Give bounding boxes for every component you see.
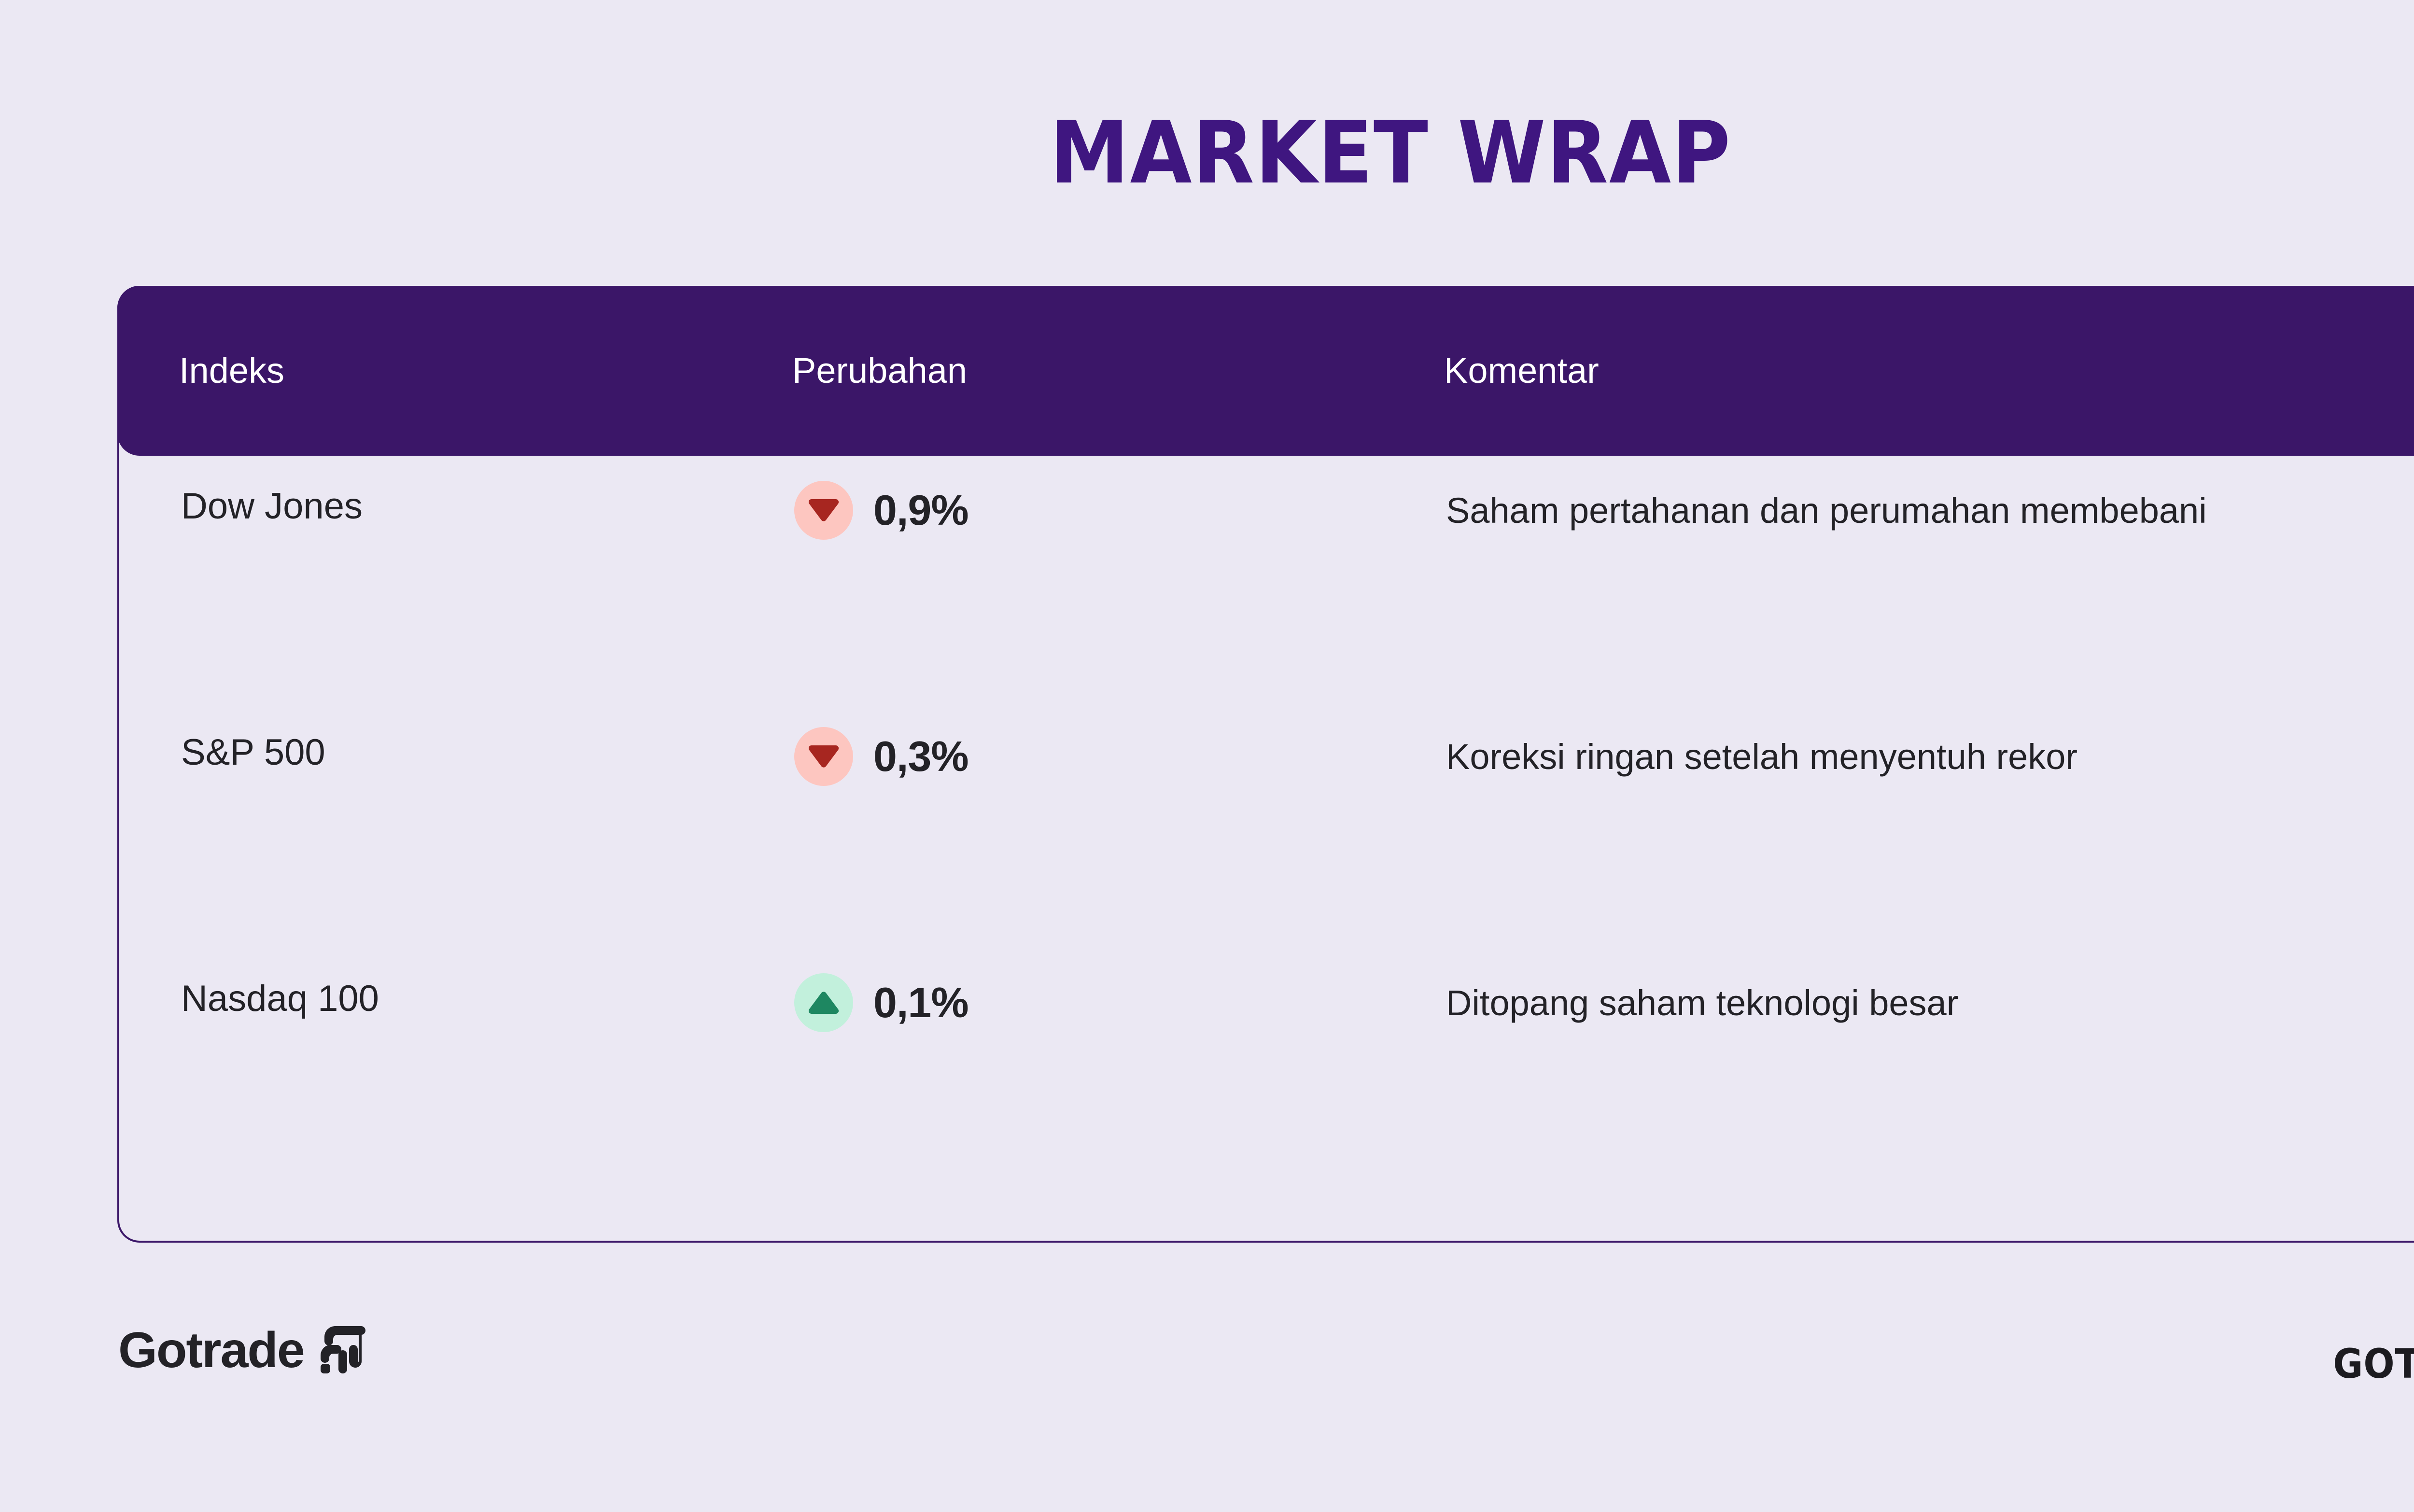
- page-title: MARKET WRAP: [98, 110, 2414, 196]
- row-index-name: S&P 500: [181, 704, 794, 773]
- table-row: Dow Jones 0,9% Saham pertahanan dan peru…: [119, 458, 2414, 704]
- row-comment: Ditopang saham teknologi besar: [1446, 950, 2414, 1028]
- row-comment: Saham pertahanan dan perumahan membebani: [1446, 458, 2414, 536]
- row-index-name: Nasdaq 100: [181, 950, 794, 1020]
- table-row: Nasdaq 100 0,1% Ditopang saham teknologi…: [119, 950, 2414, 1196]
- row-change-value: 0,1%: [873, 980, 968, 1026]
- table-header-row: Indeks Perubahan Komentar: [117, 286, 2414, 456]
- market-table-card: Indeks Perubahan Komentar Dow Jones 0,9%…: [117, 286, 2414, 1243]
- gotrade-bars-icon: [315, 1324, 369, 1377]
- row-comment: Koreksi ringan setelah menyentuh rekor: [1446, 704, 2414, 782]
- column-header-comment: Komentar: [1444, 351, 2414, 390]
- arrow-down-icon: [794, 727, 853, 786]
- gotrade-logo: Gotrade: [118, 1324, 369, 1377]
- row-change-value: 0,3%: [873, 733, 968, 780]
- row-index-name: Dow Jones: [181, 458, 794, 527]
- column-header-change: Perubahan: [792, 351, 1444, 390]
- row-change-cell: 0,3%: [794, 704, 1446, 786]
- arrow-up-icon: [794, 973, 853, 1032]
- arrow-down-icon: [794, 481, 853, 540]
- gotrade-wordmark: Gotrade: [118, 1324, 304, 1377]
- row-change-cell: 0,9%: [794, 458, 1446, 540]
- table-body: Dow Jones 0,9% Saham pertahanan dan peru…: [119, 458, 2414, 1196]
- row-change-value: 0,9%: [873, 487, 968, 533]
- row-change-cell: 0,1%: [794, 950, 1446, 1032]
- gotrade-daily-tagline: GOTRADE DAILY: [2333, 1342, 2414, 1386]
- table-row: S&P 500 0,3% Koreksi ringan setelah meny…: [119, 704, 2414, 950]
- column-header-index: Indeks: [179, 351, 792, 390]
- market-wrap-card-page: MARKET WRAP Indeks Perubahan Komentar Do…: [0, 0, 2414, 1512]
